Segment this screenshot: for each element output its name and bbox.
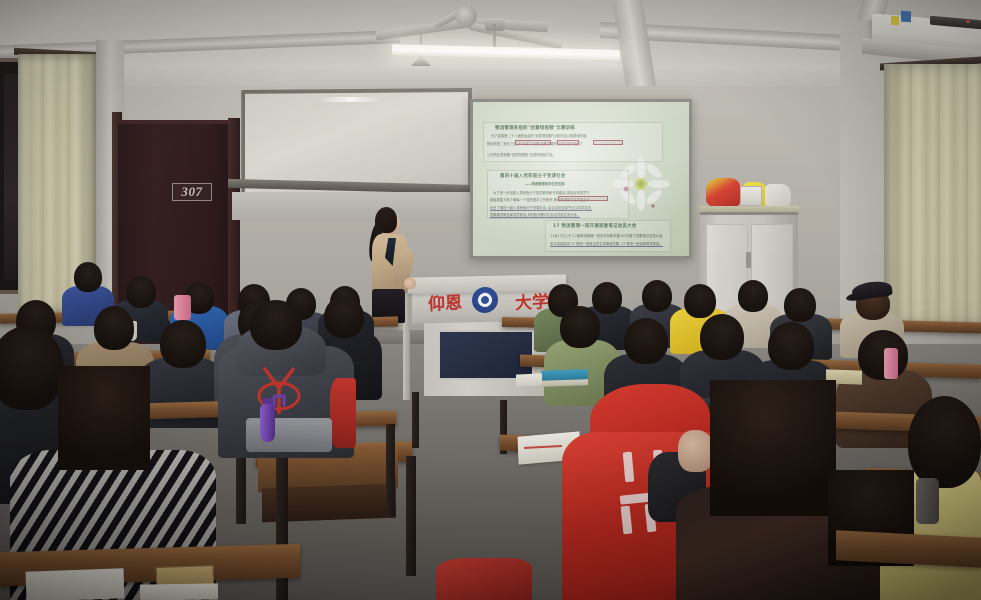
slide-body-line: 党委委员和全体党员参加,并积极开展讨论会议总结交流分会。 xyxy=(490,212,580,218)
ac-power-led-icon xyxy=(966,20,970,23)
student-head xyxy=(74,262,102,292)
slide-body-line: 公开的比赛准备"创意短视频"比赛的事前讨论。 xyxy=(487,152,556,157)
student-head xyxy=(126,276,156,308)
slide-heading: 第四十届入党积极分子党课社会 xyxy=(500,173,566,179)
slide-body-line: 为了进一步加强入党积极分子党性教育和作风建设,提高全体党员干 xyxy=(493,190,590,195)
slide-highlight-box xyxy=(515,140,551,145)
white-bag-on-cabinet xyxy=(765,184,791,208)
ac-label-sticker xyxy=(901,11,911,23)
student-head xyxy=(560,306,600,348)
presenter-hand xyxy=(404,278,416,289)
student-head xyxy=(768,322,814,370)
cabinet-handle[interactable] xyxy=(746,252,751,268)
desk-leg xyxy=(386,424,395,516)
blue-book xyxy=(541,369,588,381)
slide-body-line: 近日了第四十届入党积极分子党课社会, 会议由党支部书记主持并发言, xyxy=(490,205,592,211)
student-hand xyxy=(678,430,714,472)
slide-highlight-box xyxy=(557,140,579,145)
student-body xyxy=(436,558,532,600)
pink-cup xyxy=(174,295,191,320)
student-head xyxy=(250,300,302,350)
student-head xyxy=(58,366,150,470)
curtain-right xyxy=(884,64,981,326)
student-head xyxy=(324,296,364,338)
red-bag-on-cabinet xyxy=(706,178,740,207)
student-head xyxy=(684,284,716,318)
ac-label-sticker xyxy=(891,16,899,26)
student-head xyxy=(784,288,816,322)
whiteboard-lower-panel xyxy=(232,192,480,220)
slide-heading: 物流管理系组织"创意短视频"比赛训练 xyxy=(495,125,575,131)
hoodie-red-panel xyxy=(330,378,356,448)
student-head xyxy=(624,318,668,364)
student-head xyxy=(710,380,836,516)
open-book xyxy=(516,373,542,386)
podium-brand-left: 仰恩 xyxy=(424,289,467,313)
slide-body-line: 为了迎接第二十八届校运会的"创意短视频"比赛已如火如荼地开始, xyxy=(491,133,587,138)
white-box-on-cabinet xyxy=(740,186,762,206)
classroom-photo: 307 xyxy=(0,0,981,600)
whiteboard-glare xyxy=(318,97,382,102)
desk-leg xyxy=(412,392,419,448)
purple-water-bottle xyxy=(260,404,275,442)
student-head xyxy=(700,314,744,360)
slide-surface: 物流管理系组织"创意短视频"比赛训练 为了迎接第二十八届校运会的"创意短视频"比… xyxy=(473,102,689,256)
slide-heading: 17 物流管理一班开展班委笔记动员大会 xyxy=(553,223,637,229)
student-head xyxy=(858,330,908,380)
paper-sheet xyxy=(26,568,125,600)
student-head xyxy=(908,396,981,488)
student-head xyxy=(160,320,206,368)
slide-body-line: 11月17日上午,17级物流管理一班在本系教学楼303开展了班委笔记动员大会, xyxy=(550,233,663,238)
student-head xyxy=(592,282,622,314)
slide-highlight-box xyxy=(593,140,623,145)
student-head xyxy=(738,280,768,312)
hoodie-graphic-print xyxy=(250,362,308,422)
presenter-hair xyxy=(375,207,397,233)
projection-screen: 物流管理系组织"创意短视频"比赛训练 为了迎接第二十八届校运会的"创意短视频"比… xyxy=(470,99,692,259)
slide-highlight-box xyxy=(558,196,608,201)
desk-leg xyxy=(276,458,288,600)
student-head xyxy=(642,280,672,312)
grey-tumbler xyxy=(916,478,939,524)
pink-phone[interactable] xyxy=(884,348,898,379)
hoodie-grey-panel xyxy=(246,418,332,452)
slide-body-line: 本次活动由班 17 物流一班班主任主持带领开展, 17 物流一班全体同学参加。 xyxy=(550,241,663,247)
ceiling-fan-icon xyxy=(455,5,477,27)
student-head xyxy=(94,306,134,350)
paper-sheet xyxy=(140,583,218,600)
slide-subheading: ——物流管理系学生党支部 xyxy=(525,181,565,186)
room-number-plate: 307 xyxy=(172,183,212,201)
desk-leg xyxy=(406,456,416,576)
